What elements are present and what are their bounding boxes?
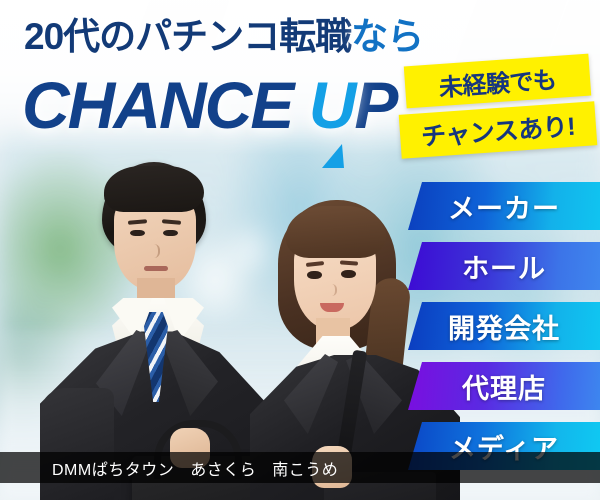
caption-site: DMMぱちタウン	[52, 456, 174, 480]
badge-line-2: チャンスあり!	[399, 101, 598, 159]
caption-person-2: 南こうめ	[272, 456, 338, 480]
logo-word-chance: CHANCE	[22, 68, 292, 142]
logo-letter-u: U	[309, 72, 355, 138]
caption-bar: DMMぱちタウン あさくら 南こうめ	[0, 452, 600, 483]
banner-root: 20代のパチンコ転職なら CHANCE UP 未経験でも チャンスあり! メーカ…	[0, 0, 600, 500]
headline-accent: なら	[351, 16, 423, 57]
category-button-developer[interactable]: 開発会社	[408, 302, 600, 350]
headline: 20代のパチンコ転職なら	[24, 18, 454, 55]
category-button-maker[interactable]: メーカー	[408, 182, 600, 230]
category-list: メーカー ホール 開発会社 代理店 メディア	[408, 180, 600, 480]
category-button-agency[interactable]: 代理店	[408, 362, 600, 410]
caption-person-1: あさくら	[190, 456, 256, 480]
photo-man	[40, 160, 270, 500]
badge-line-1: 未経験でも	[404, 54, 591, 109]
category-button-hall[interactable]: ホール	[408, 242, 600, 290]
badge-unexperienced-ok: 未経験でも チャンスあり!	[400, 56, 600, 160]
logo-chance-up: CHANCE UP	[22, 72, 396, 138]
headline-main: 20代のパチンコ転職	[24, 16, 351, 57]
logo-letter-p: P	[354, 68, 396, 142]
